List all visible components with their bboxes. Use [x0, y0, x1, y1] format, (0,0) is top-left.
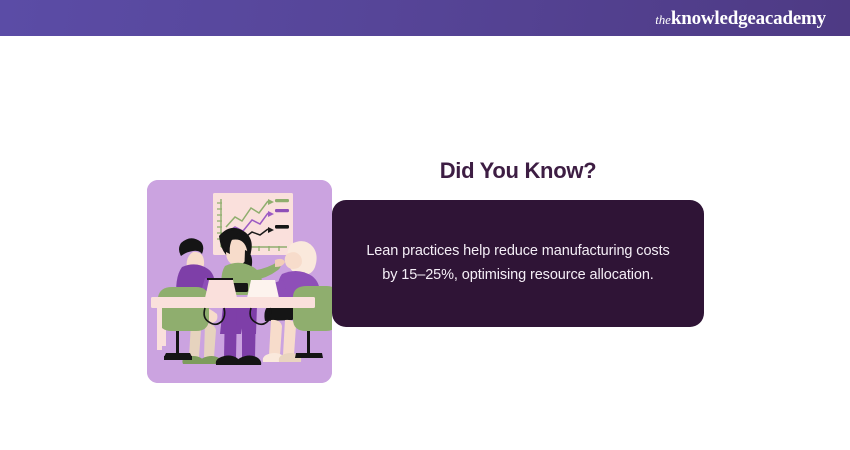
chair-right-post [307, 331, 310, 353]
person-right-shin-b [283, 320, 296, 355]
page-title: Did You Know? [332, 158, 704, 184]
chart-legend-swatch-black [275, 225, 289, 229]
fact-card-text: Lean practices help reduce manufacturing… [358, 240, 678, 288]
brand-logo-word-academy: academy [756, 9, 826, 28]
chair-right-seat [293, 286, 332, 331]
person-right-shin-a [269, 320, 282, 355]
brand-logo-prefix: the [655, 13, 671, 26]
laptop-right-screen [247, 280, 279, 298]
site-header: theknowledgeacademy [0, 0, 850, 36]
fact-card: Lean practices help reduce manufacturing… [332, 200, 704, 327]
chart-legend-swatch-green [275, 199, 289, 202]
chair-left-seat [158, 287, 209, 331]
person-left-shin-b [204, 323, 216, 357]
content-area: Did You Know? Lean practices help reduce… [0, 36, 850, 450]
chair-left-base-2 [164, 353, 192, 357]
chart-legend-swatch-purple [275, 209, 289, 212]
chair-right-base [295, 353, 323, 358]
page-root: { "header": { "brand": { "prefix": "the"… [0, 0, 850, 450]
meeting-table-leg-front [157, 308, 162, 350]
business-presentation-illustration [147, 180, 332, 383]
presenter-leg-right [242, 306, 256, 358]
chair-left-post [176, 331, 179, 353]
brand-logo-word-knowledge: knowledge [671, 9, 756, 28]
laptop-left-edge [207, 278, 233, 280]
illustration-svg [147, 180, 332, 383]
presenter-leg-left [224, 306, 237, 358]
chart-y-ticks [217, 203, 222, 239]
laptop-left-screen [205, 280, 237, 298]
meeting-table-front [151, 297, 315, 308]
brand-logo[interactable]: theknowledgeacademy [655, 9, 826, 28]
